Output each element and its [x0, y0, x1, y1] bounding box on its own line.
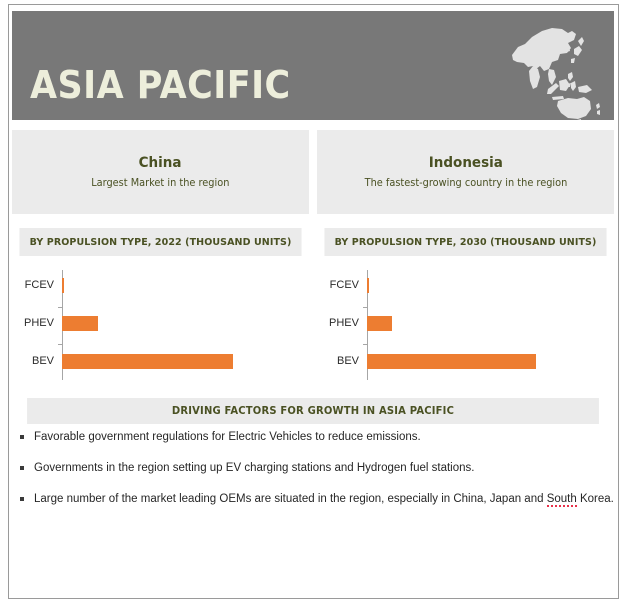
chart-plot-area: FCEV PHEV BEV — [12, 262, 309, 388]
bar-fcev — [367, 278, 369, 293]
driving-factors-header: DRIVING FACTORS FOR GROWTH IN ASIA PACIF… — [27, 398, 599, 424]
driving-factors-list: Favorable government regulations for Ele… — [12, 430, 614, 523]
axis-tick — [363, 344, 367, 345]
chart-subtitle-2030: BY PROPULSION TYPE, 2030 (THOUSAND UNITS… — [324, 228, 606, 256]
bar-track — [62, 270, 309, 300]
category-label-phev: PHEV — [317, 317, 367, 329]
bar-phev — [367, 316, 392, 331]
factor-text: Favorable government regulations for Ele… — [34, 431, 421, 443]
list-item: Governments in the region setting up EV … — [12, 461, 614, 476]
chart-plot-area: FCEV PHEV BEV — [317, 262, 614, 388]
bullet-icon — [20, 497, 24, 501]
country-name: China — [139, 154, 182, 172]
bar-row-bev: BEV — [12, 346, 309, 376]
page-title: ASIA PACIFIC — [30, 66, 291, 104]
category-label-phev: PHEV — [12, 317, 62, 329]
list-item: Large number of the market leading OEMs … — [12, 492, 614, 507]
factor-text: Governments in the region setting up EV … — [34, 462, 474, 474]
category-label-bev: BEV — [12, 355, 62, 367]
bar-row-bev: BEV — [317, 346, 614, 376]
charts-row: FCEV PHEV BEV — [12, 262, 614, 388]
region-banner: ASIA PACIFIC — [12, 11, 614, 120]
infographic-page: ASIA PACIFIC — [0, 0, 631, 607]
bar-chart-indonesia-2030: FCEV PHEV BEV — [317, 262, 614, 388]
chart-subtitle-row: BY PROPULSION TYPE, 2022 (THOUSAND UNITS… — [12, 228, 614, 256]
country-subtitle: Largest Market in the region — [91, 176, 229, 190]
bar-row-phev: PHEV — [12, 308, 309, 338]
bar-track — [367, 346, 614, 376]
bar-track — [367, 308, 614, 338]
axis-tick — [58, 344, 62, 345]
bar-chart-china-2022: FCEV PHEV BEV — [12, 262, 309, 388]
country-card-china: China Largest Market in the region — [12, 130, 309, 214]
country-card-indonesia: Indonesia The fastest-growing country in… — [317, 130, 614, 214]
bullet-icon — [20, 466, 24, 470]
list-item: Favorable government regulations for Ele… — [12, 430, 614, 445]
bar-phev — [62, 316, 98, 331]
asia-pacific-map-icon — [492, 17, 602, 120]
bar-bev — [367, 354, 536, 369]
country-name: Indonesia — [428, 154, 502, 172]
bar-track — [62, 346, 309, 376]
bar-bev — [62, 354, 233, 369]
factor-text-suffix: Korea. — [577, 493, 614, 505]
bar-fcev — [62, 278, 64, 293]
chart-subtitle-2022: BY PROPULSION TYPE, 2022 (THOUSAND UNITS… — [19, 228, 301, 256]
bar-row-fcev: FCEV — [317, 270, 614, 300]
country-cards-row: China Largest Market in the region Indon… — [12, 130, 614, 214]
bar-track — [367, 270, 614, 300]
country-subtitle: The fastest-growing country in the regio… — [364, 176, 567, 190]
factor-text-prefix: Large number of the market leading OEMs … — [34, 493, 547, 505]
bar-row-fcev: FCEV — [12, 270, 309, 300]
spellcheck-misspelled-word: South — [547, 493, 577, 507]
bullet-icon — [20, 435, 24, 439]
bar-row-phev: PHEV — [317, 308, 614, 338]
bar-track — [62, 308, 309, 338]
category-label-fcev: FCEV — [12, 279, 62, 291]
category-label-fcev: FCEV — [317, 279, 367, 291]
category-label-bev: BEV — [317, 355, 367, 367]
